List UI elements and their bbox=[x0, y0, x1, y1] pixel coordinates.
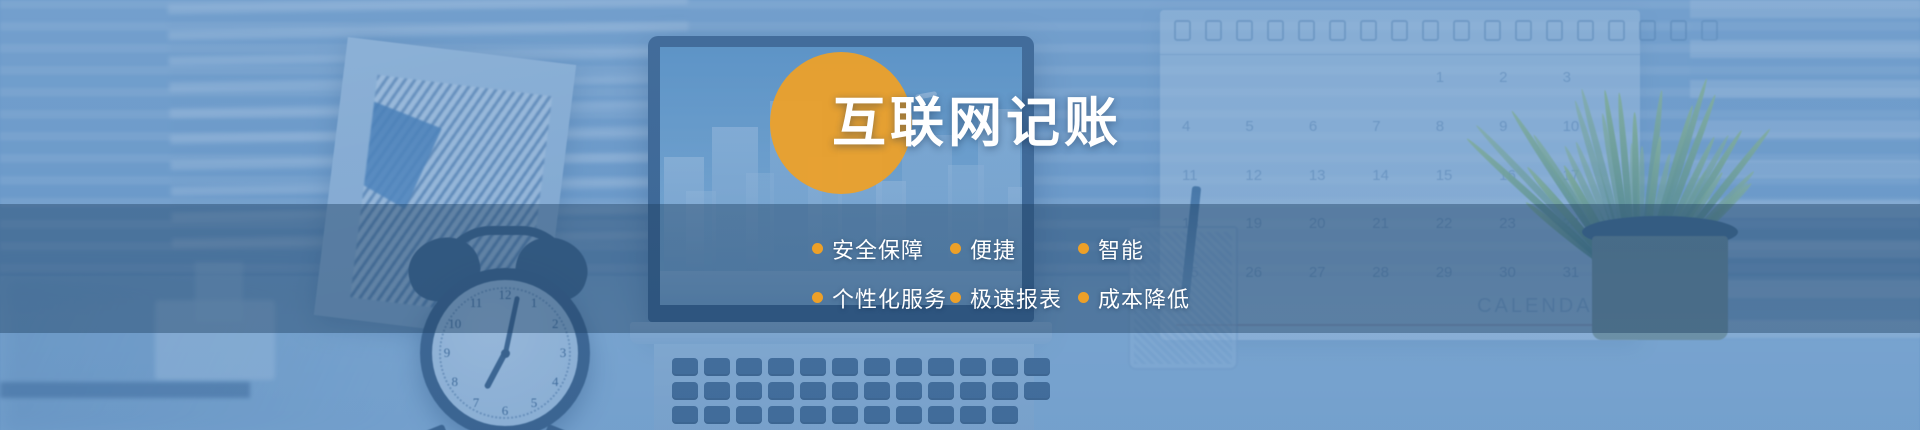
feature-row: 安全保障 便捷 智能 bbox=[812, 224, 1372, 273]
feature-label: 极速报表 bbox=[970, 282, 1062, 314]
feature-row: 个性化服务 极速报表 成本降低 bbox=[812, 273, 1372, 322]
feature-item: 安全保障 bbox=[812, 233, 950, 265]
feature-item: 便捷 bbox=[950, 233, 1078, 265]
bullet-dot-icon bbox=[950, 292, 961, 303]
banner-content: 互联网记账 安全保障 便捷 智能 个性化服务 bbox=[0, 0, 1920, 430]
feature-label: 安全保障 bbox=[832, 233, 924, 265]
feature-label: 便捷 bbox=[970, 233, 1016, 265]
bullet-dot-icon bbox=[950, 243, 961, 254]
banner-title: 互联网记账 bbox=[832, 96, 1122, 150]
feature-item: 成本降低 bbox=[1078, 282, 1190, 314]
feature-label: 成本降低 bbox=[1098, 282, 1190, 314]
feature-item: 极速报表 bbox=[950, 282, 1078, 314]
bullet-dot-icon bbox=[1078, 243, 1089, 254]
feature-label: 个性化服务 bbox=[832, 282, 947, 314]
bullet-dot-icon bbox=[1078, 292, 1089, 303]
feature-list: 安全保障 便捷 智能 个性化服务 极速报表 bbox=[812, 224, 1372, 322]
promo-banner: 121234567891011 bbox=[0, 0, 1920, 430]
bullet-dot-icon bbox=[812, 243, 823, 254]
feature-label: 智能 bbox=[1098, 233, 1144, 265]
feature-item: 智能 bbox=[1078, 233, 1144, 265]
bullet-dot-icon bbox=[812, 292, 823, 303]
feature-item: 个性化服务 bbox=[812, 282, 950, 314]
